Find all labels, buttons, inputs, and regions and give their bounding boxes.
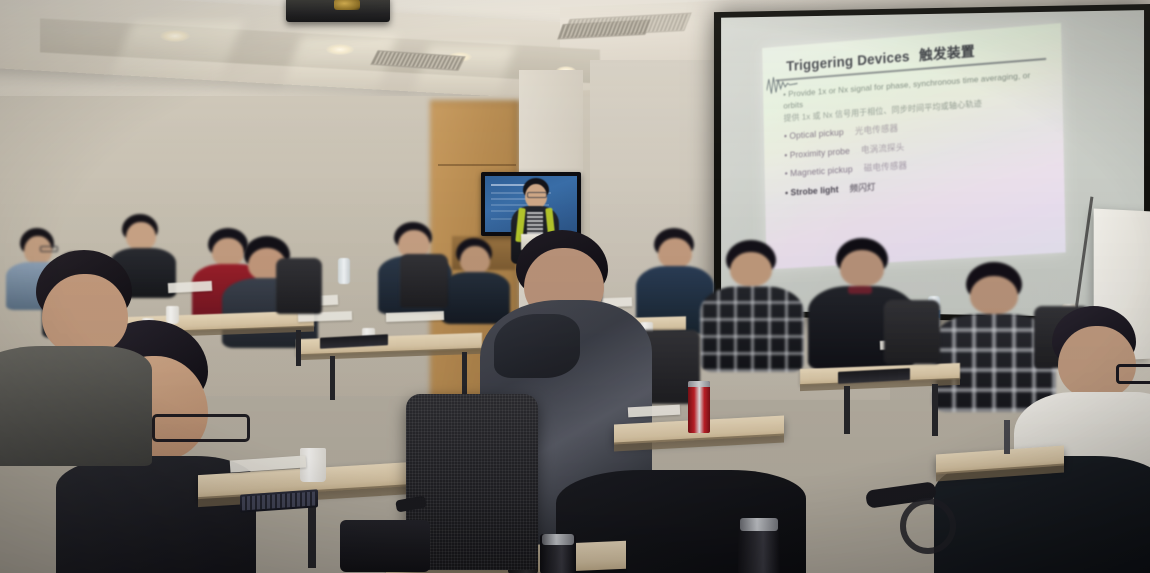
downlight-2	[326, 44, 354, 55]
bullet-cn: 频闪灯	[850, 182, 876, 193]
chair-right-1	[884, 300, 940, 364]
downlight-1	[160, 30, 190, 42]
door-seam	[438, 164, 516, 166]
water-bottle-3	[338, 258, 350, 284]
attendee-front-leftmost	[0, 250, 150, 460]
slide-body: • Provide 1x or Nx signal for phase, syn…	[783, 68, 1049, 199]
projector-lens-icon	[334, 0, 360, 10]
bullet-en: • Strobe light	[785, 184, 839, 197]
presenter-glasses-icon	[527, 192, 547, 198]
bullet-cn: 磁电传感器	[864, 161, 908, 174]
bullet-en: • Proximity probe	[784, 146, 850, 160]
hoodie-hood	[494, 314, 580, 378]
front-leftmost-jacket	[0, 346, 152, 466]
glasses-icon-right	[1116, 364, 1150, 384]
beverage-can	[688, 381, 710, 433]
chair-base	[340, 520, 430, 572]
bullet-en: • Optical pickup	[784, 128, 844, 142]
bullet-en: • Magnetic pickup	[785, 165, 853, 179]
thermos-flask-2	[540, 534, 576, 573]
slide: Triggering Devices触发装置 • Provide 1x or N…	[762, 23, 1065, 269]
chair-back-2	[400, 254, 448, 308]
attendee-mid-plaid	[708, 240, 796, 370]
thermos-flask-1	[738, 518, 780, 573]
bullet-cn: 电涡流探头	[861, 142, 905, 155]
slide-title-cn: 触发装置	[919, 44, 975, 64]
bullet-cn: 光电传感器	[855, 124, 898, 137]
ceiling-projector	[286, 0, 390, 22]
chair-back-1	[276, 258, 322, 314]
glasses-icon	[152, 414, 250, 442]
papers-front-can	[628, 405, 680, 418]
chair-wheel-right	[900, 498, 956, 554]
photo-scene: Triggering Devices触发装置 • Provide 1x or N…	[0, 0, 1150, 573]
